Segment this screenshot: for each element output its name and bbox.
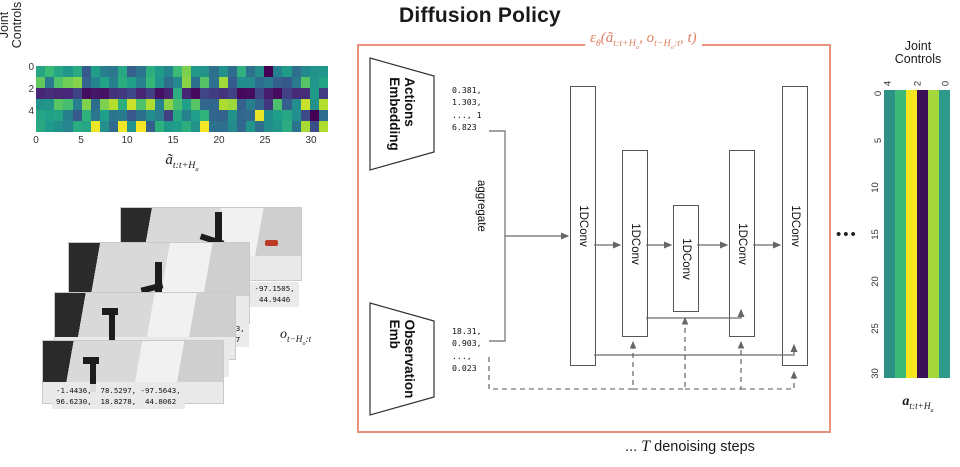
page-title: Diffusion Policy (0, 4, 960, 28)
heatmap-cell (209, 99, 218, 110)
heatmap-cell (237, 66, 246, 77)
heatmap-cell (100, 77, 109, 88)
heatmap-cell (91, 66, 100, 77)
actions-embedding-vector: 0.381, 1.303, ..., 1 6.823 (452, 84, 482, 133)
heatmap-cell (136, 110, 145, 121)
heatmap-cell (54, 121, 63, 132)
heatmap-cell (273, 88, 282, 99)
caption-prefix: ... (625, 439, 637, 455)
heatmap-cell (136, 77, 145, 88)
heatmap-cell (292, 66, 301, 77)
heatmap-cell (91, 110, 100, 121)
heatmap-cell (91, 77, 100, 88)
output-xticks: 4 2 0 (876, 74, 960, 88)
heatmap-cell (292, 99, 301, 110)
heatmap-cell (127, 66, 136, 77)
denoising-caption: ... T denoising steps (530, 438, 850, 456)
heatmap-cell (310, 121, 319, 132)
heatmap-cell (45, 99, 54, 110)
output-xtick-4: 4 (883, 81, 894, 86)
heatmap-cell (228, 88, 237, 99)
heatmap-cell (191, 88, 200, 99)
heatmap-cell (118, 66, 127, 77)
heatmap-cell (36, 77, 45, 88)
ytick-2: 2 (28, 84, 34, 95)
heatmap-cell (209, 77, 218, 88)
heatmap-cell (146, 66, 155, 77)
heatmap-cell (82, 77, 91, 88)
heatmap-cell (127, 121, 136, 132)
conv-block-2-label: 1DConv (629, 223, 641, 265)
heatmap-cell (82, 99, 91, 110)
conv-block-4-label: 1DConv (736, 223, 748, 265)
heatmap-cell (63, 88, 72, 99)
heatmap-cell (109, 121, 118, 132)
heatmap-cell (45, 110, 54, 121)
heatmap-cell (136, 88, 145, 99)
heatmap-cell (292, 77, 301, 88)
heatmap-cell (173, 121, 182, 132)
heatmap-cell (292, 88, 301, 99)
heatmap-cell (118, 88, 127, 99)
heatmap-cell (36, 121, 45, 132)
heatmap-cell (209, 66, 218, 77)
heatmap-cell (319, 88, 328, 99)
heatmap-cell (155, 99, 164, 110)
output-stripe (928, 90, 939, 378)
heatmap-cell (173, 77, 182, 88)
heatmap-cell (63, 110, 72, 121)
heatmap-cell (182, 77, 191, 88)
heatmap-cell (264, 66, 273, 77)
heatmap-cell (173, 88, 182, 99)
heatmap-cell (301, 66, 310, 77)
heatmap-cell (146, 99, 155, 110)
heatmap-cell (164, 88, 173, 99)
heatmap-cell (127, 99, 136, 110)
heatmap-cell (200, 121, 209, 132)
heatmap-cell (109, 88, 118, 99)
heatmap-cell (91, 99, 100, 110)
heatmap-cell (164, 110, 173, 121)
xtick-20: 20 (213, 135, 224, 146)
conv-block-1-label: 1DConv (577, 205, 589, 247)
input-heatmap-yticks: 0 2 4 (22, 62, 34, 134)
heatmap-cell (36, 88, 45, 99)
heatmap-cell (246, 88, 255, 99)
conv-block-3: 1DConv (673, 205, 699, 312)
heatmap-cell (45, 77, 54, 88)
heatmap-cell (173, 110, 182, 121)
heatmap-cell (301, 77, 310, 88)
heatmap-cell (63, 66, 72, 77)
heatmap-cell (82, 110, 91, 121)
heatmap-cell (63, 99, 72, 110)
aggregate-label: aggregate (475, 180, 487, 232)
heatmap-cell (36, 99, 45, 110)
conv-block-4: 1DConv (729, 150, 755, 337)
heatmap-cell (191, 110, 200, 121)
heatmap-cell (73, 88, 82, 99)
heatmap-cell (319, 77, 328, 88)
heatmap-cell (219, 121, 228, 132)
heatmap-cell (264, 77, 273, 88)
heatmap-cell (255, 110, 264, 121)
heatmap-cell (146, 77, 155, 88)
heatmap-cell (237, 88, 246, 99)
output-ytick-15: 15 (870, 229, 881, 240)
heatmap-cell (246, 121, 255, 132)
heatmap-cell (100, 110, 109, 121)
output-title: JointControls (876, 40, 960, 66)
heatmap-cell (173, 99, 182, 110)
heatmap-cell (255, 99, 264, 110)
heatmap-cell (73, 110, 82, 121)
heatmap-cell (273, 110, 282, 121)
heatmap-cell (219, 77, 228, 88)
heatmap-cell (146, 121, 155, 132)
heatmap-cell (127, 110, 136, 121)
output-stripe (906, 90, 917, 378)
heatmap-cell (73, 77, 82, 88)
heatmap-cell (45, 88, 54, 99)
observation-label: ot−Ho:t (280, 327, 311, 347)
heatmap-cell (155, 77, 164, 88)
heatmap-cell (82, 88, 91, 99)
heatmap-cell (255, 88, 264, 99)
heatmap-cell (73, 121, 82, 132)
xtick-0: 0 (33, 135, 39, 146)
output-yticks: 0 5 10 15 20 25 30 (864, 88, 882, 380)
heatmap-cell (118, 110, 127, 121)
heatmap-cell (319, 66, 328, 77)
heatmap-cell (209, 110, 218, 121)
conv-block-5: 1DConv (782, 86, 808, 366)
heatmap-cell (319, 110, 328, 121)
heatmap-cell (209, 121, 218, 132)
heatmap-cell (182, 121, 191, 132)
heatmap-cell (100, 121, 109, 132)
heatmap-cell (282, 99, 291, 110)
heatmap-cell (182, 110, 191, 121)
heatmap-cell (91, 121, 100, 132)
heatmap-cell (310, 88, 319, 99)
heatmap-cell (273, 77, 282, 88)
heatmap-cell (118, 77, 127, 88)
observation-embedding-vector: 18.31, 0.903, ..., 0.023 (452, 325, 482, 374)
heatmap-cell (54, 110, 63, 121)
output-stripe (895, 90, 906, 378)
input-heatmap-xlabel: ãt:t+Ha (36, 152, 328, 173)
heatmap-cell (182, 99, 191, 110)
heatmap-cell (36, 66, 45, 77)
actions-embedding-block: ActionsEmbedding (367, 55, 437, 173)
output-label: at:t+Ha (876, 394, 960, 414)
heatmap-cell (310, 66, 319, 77)
heatmap-cell (264, 99, 273, 110)
heatmap-cell (54, 99, 63, 110)
heatmap-cell (91, 88, 100, 99)
heatmap-cell (191, 66, 200, 77)
heatmap-cell (164, 99, 173, 110)
xtick-25: 25 (259, 135, 270, 146)
heatmap-cell (282, 88, 291, 99)
heatmap-cell (219, 99, 228, 110)
heatmap-cell (255, 121, 264, 132)
heatmap-cell (100, 66, 109, 77)
heatmap-cell (200, 99, 209, 110)
heatmap-cell (246, 77, 255, 88)
heatmap-cell (127, 88, 136, 99)
heatmap-cell (82, 121, 91, 132)
epsilon-theta-formula: εθ(ãt:t+Ha, ot−Ho:t, t) (585, 30, 702, 51)
heatmap-cell (200, 110, 209, 121)
caption-suffix: denoising steps (654, 439, 755, 455)
input-heatmap-xticks: 0 5 10 15 20 25 30 (36, 135, 328, 149)
conv-block-3-label: 1DConv (680, 238, 692, 280)
heatmap-cell (63, 121, 72, 132)
output-stripe (884, 90, 895, 378)
conv-block-5-label: 1DConv (789, 205, 801, 247)
observation-values-4: -1.4436, 78.5297, -97.5643, 96.6230, 18.… (52, 384, 185, 409)
output-stripe (917, 90, 928, 378)
heatmap-cell (255, 77, 264, 88)
heatmap-cell (100, 99, 109, 110)
heatmap-cell (200, 66, 209, 77)
heatmap-cell (310, 110, 319, 121)
heatmap-cell (200, 77, 209, 88)
output-ytick-20: 20 (870, 276, 881, 287)
heatmap-cell (136, 121, 145, 132)
heatmap-cell (292, 121, 301, 132)
heatmap-cell (63, 77, 72, 88)
output-ytick-10: 10 (870, 182, 881, 193)
xtick-15: 15 (167, 135, 178, 146)
ytick-4: 4 (28, 106, 34, 117)
heatmap-cell (182, 66, 191, 77)
heatmap-cell (282, 121, 291, 132)
heatmap-cell (73, 99, 82, 110)
heatmap-cell (282, 110, 291, 121)
heatmap-cell (264, 121, 273, 132)
output-ytick-0: 0 (873, 91, 884, 96)
heatmap-cell (219, 66, 228, 77)
heatmap-cell (282, 66, 291, 77)
xtick-5: 5 (78, 135, 84, 146)
actions-embedding-label: ActionsEmbedding (387, 77, 417, 151)
output-xtick-0: 0 (941, 81, 952, 86)
heatmap-cell (228, 66, 237, 77)
conv-block-1: 1DConv (570, 86, 596, 366)
output-xtick-2: 2 (913, 81, 924, 86)
heatmap-cell (54, 88, 63, 99)
heatmap-cell (228, 110, 237, 121)
heatmap-cell (191, 99, 200, 110)
heatmap-cell (73, 66, 82, 77)
caption-T: T (641, 438, 650, 455)
heatmap-cell (118, 99, 127, 110)
heatmap-cell (301, 88, 310, 99)
heatmap-cell (191, 77, 200, 88)
heatmap-cell (118, 121, 127, 132)
heatmap-cell (155, 66, 164, 77)
heatmap-cell (319, 99, 328, 110)
heatmap-cell (82, 66, 91, 77)
heatmap-cell (191, 121, 200, 132)
heatmap-cell (173, 66, 182, 77)
heatmap-cell (54, 77, 63, 88)
heatmap-cell (127, 77, 136, 88)
heatmap-cell (273, 66, 282, 77)
heatmap-cell (209, 88, 218, 99)
input-action-heatmap (36, 66, 328, 132)
heatmap-cell (228, 77, 237, 88)
heatmap-cell (301, 110, 310, 121)
heatmap-cell (228, 121, 237, 132)
heatmap-cell (109, 99, 118, 110)
input-heatmap-grid (36, 66, 328, 132)
heatmap-cell (273, 99, 282, 110)
heatmap-cell (155, 88, 164, 99)
heatmap-cell (136, 66, 145, 77)
heatmap-cell (100, 88, 109, 99)
output-ellipsis: ••• (836, 226, 858, 243)
heatmap-cell (246, 110, 255, 121)
conv-block-2: 1DConv (622, 150, 648, 337)
input-heatmap-ylabel: JointControls (0, 0, 24, 60)
xtick-30: 30 (305, 135, 316, 146)
heatmap-cell (310, 77, 319, 88)
heatmap-cell (246, 66, 255, 77)
heatmap-cell (136, 99, 145, 110)
heatmap-cell (146, 110, 155, 121)
heatmap-cell (155, 121, 164, 132)
heatmap-cell (310, 99, 319, 110)
xtick-10: 10 (121, 135, 132, 146)
heatmap-cell (237, 99, 246, 110)
heatmap-cell (255, 66, 264, 77)
heatmap-cell (109, 77, 118, 88)
heatmap-cell (301, 99, 310, 110)
heatmap-cell (237, 121, 246, 132)
heatmap-cell (182, 88, 191, 99)
heatmap-cell (146, 88, 155, 99)
heatmap-cell (45, 121, 54, 132)
output-action-heatmap (884, 90, 950, 378)
output-stripe (939, 90, 950, 378)
heatmap-cell (264, 110, 273, 121)
heatmap-cell (246, 99, 255, 110)
heatmap-cell (45, 66, 54, 77)
heatmap-cell (237, 77, 246, 88)
heatmap-cell (273, 121, 282, 132)
heatmap-cell (109, 110, 118, 121)
heatmap-cell (228, 99, 237, 110)
heatmap-cell (36, 110, 45, 121)
heatmap-cell (219, 88, 228, 99)
heatmap-cell (109, 66, 118, 77)
output-ytick-5: 5 (873, 138, 884, 143)
output-ytick-30: 30 (870, 368, 881, 379)
heatmap-cell (155, 110, 164, 121)
observation-embedding-block: ObservationEmb (367, 300, 437, 418)
heatmap-cell (219, 110, 228, 121)
ytick-0: 0 (28, 62, 34, 73)
output-ytick-25: 25 (870, 323, 881, 334)
heatmap-cell (319, 121, 328, 132)
heatmap-cell (292, 110, 301, 121)
heatmap-cell (237, 110, 246, 121)
heatmap-cell (164, 121, 173, 132)
heatmap-cell (54, 66, 63, 77)
heatmap-cell (282, 77, 291, 88)
observation-embedding-label: ObservationEmb (387, 320, 417, 399)
heatmap-cell (164, 66, 173, 77)
heatmap-cell (200, 88, 209, 99)
heatmap-cell (264, 88, 273, 99)
heatmap-cell (164, 77, 173, 88)
heatmap-cell (301, 121, 310, 132)
